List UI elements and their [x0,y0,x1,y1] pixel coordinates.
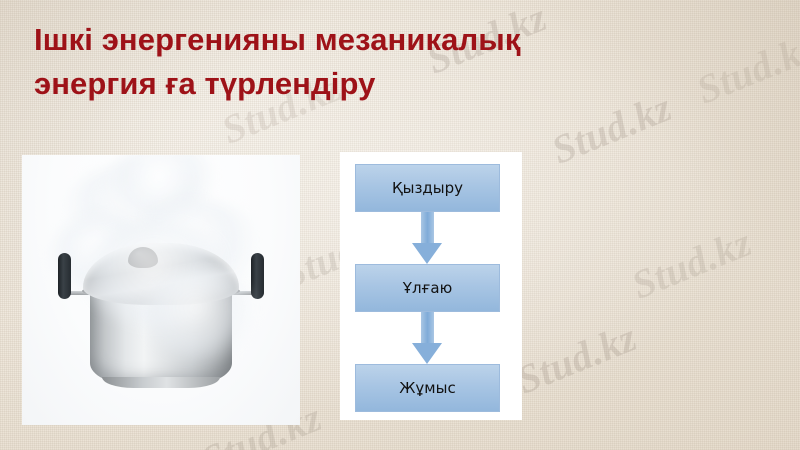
title-line-2: энергия ға түрлендіру [34,62,764,106]
arrow-shaft [421,212,434,245]
energy-flow-diagram: Қыздыру Ұлғаю Жұмыс [340,152,522,420]
page-title: Ішкі энергенияны мезаникалық энергия ға … [34,18,764,106]
slide-canvas: Stud.kz Stud.kz Stud.kz Stud.kz Stud.kz … [0,0,800,450]
flow-step-heating: Қыздыру [355,164,500,212]
arrow-shaft [421,312,434,345]
flow-step-expansion: Ұлғаю [355,264,500,312]
flow-step-label: Жұмыс [399,379,455,397]
title-line-1: Ішкі энергенияны мезаникалық [34,18,764,62]
flow-step-work: Жұмыс [355,364,500,412]
down-arrow-icon [412,212,443,264]
arrow-head [412,243,442,264]
down-arrow-icon [412,312,443,364]
pot-photo [22,155,300,425]
pot-base [102,377,220,388]
right-handle-grip [251,253,264,299]
left-handle-grip [58,253,71,299]
watermark-text: Stud.kz [625,218,758,308]
flow-step-label: Қыздыру [392,179,463,197]
watermark-text: Stud.kz [510,313,643,403]
arrow-head [412,343,442,364]
flow-step-label: Ұлғаю [403,279,452,297]
steam [142,273,262,361]
